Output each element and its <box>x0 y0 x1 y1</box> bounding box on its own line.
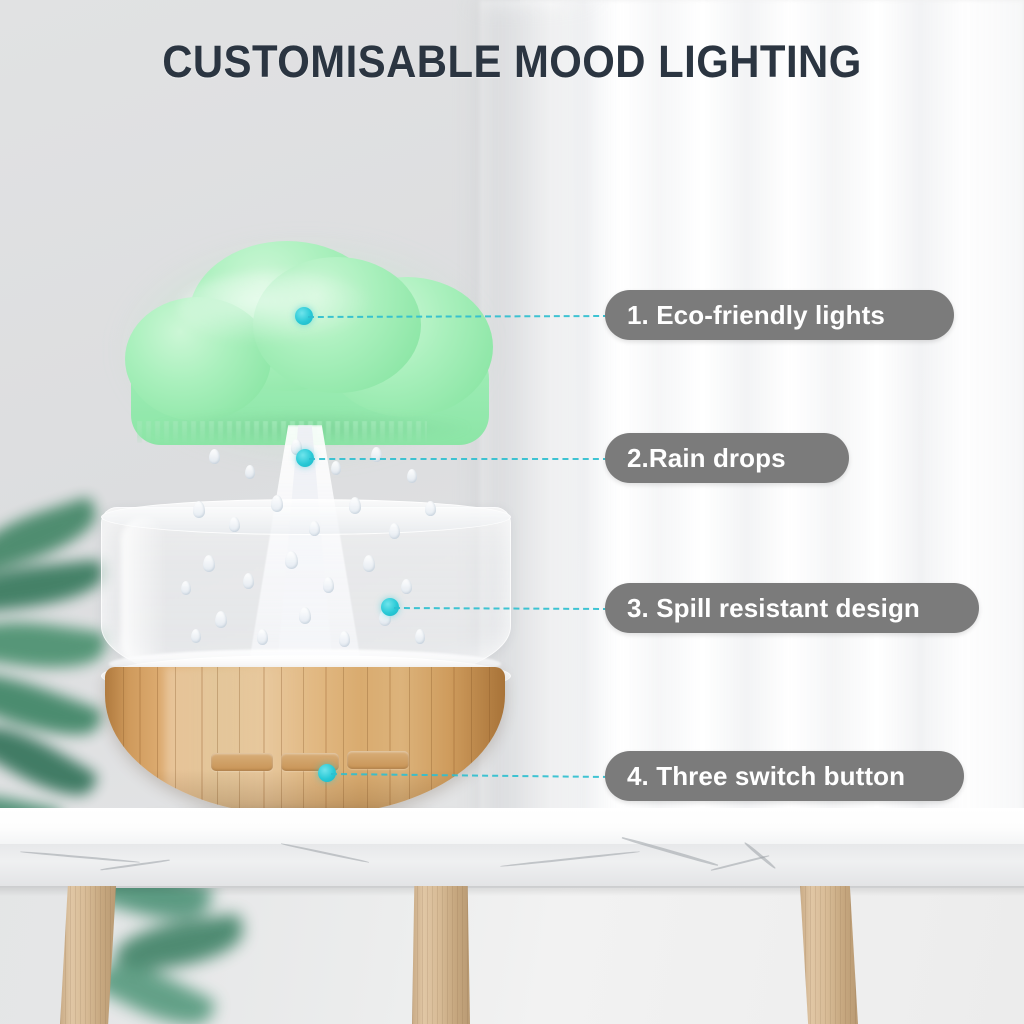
callout-pill-2[interactable]: 2.Rain drops <box>605 433 849 483</box>
table-leg-right <box>800 886 858 1024</box>
marble-table-top <box>0 808 1024 844</box>
callout-label-4: 4. Three switch button <box>627 761 905 792</box>
callout-label-2: 2.Rain drops <box>627 443 786 474</box>
chamber-highlight <box>121 517 167 667</box>
switch-button-3[interactable] <box>347 751 409 769</box>
page-title: CUSTOMISABLE MOOD LIGHTING <box>36 36 988 88</box>
callout-label-1: 1. Eco-friendly lights <box>627 300 885 331</box>
table-leg-center <box>412 886 470 1024</box>
callout-pill-1[interactable]: 1. Eco-friendly lights <box>605 290 954 340</box>
product-infographic: CUSTOMISABLE MOOD LIGHTING 1. Eco-friend… <box>0 0 1024 1024</box>
callout-pill-3[interactable]: 3. Spill resistant design <box>605 583 979 633</box>
table-leg-left <box>60 886 116 1024</box>
callout-label-3: 3. Spill resistant design <box>627 593 920 624</box>
cloud-nozzle-fringe <box>137 421 427 443</box>
mood-light-cloud <box>125 241 495 446</box>
callout-connector-2 <box>309 458 609 460</box>
table-underside-shadow <box>0 886 1024 896</box>
callout-pill-4[interactable]: 4. Three switch button <box>605 751 964 801</box>
marble-table-edge <box>0 844 1024 888</box>
wooden-base <box>105 667 505 815</box>
